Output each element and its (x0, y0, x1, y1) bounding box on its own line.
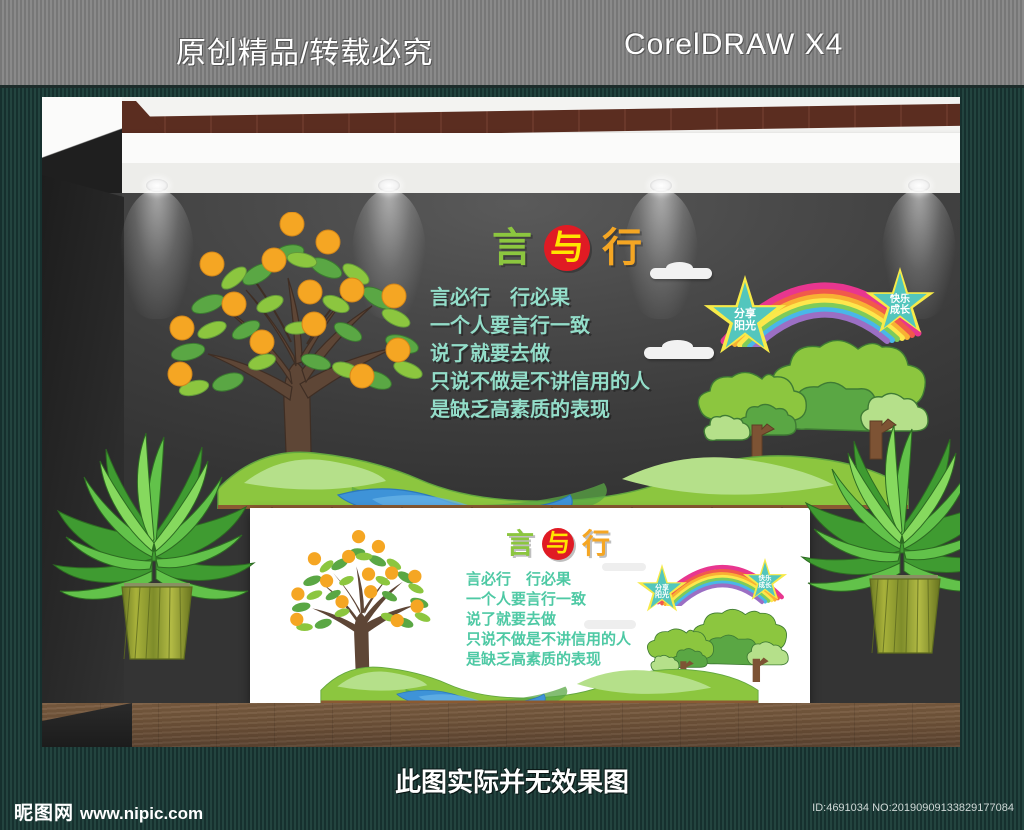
panel-title-char-3: 行 (582, 530, 610, 558)
star-right-line2: 成长 (890, 306, 910, 317)
panel-star-left-line1: 分享 (655, 585, 669, 592)
room-scene: 言 与 行 言必行 行必果 一个人要言行一致 说了就要去做 只说不做是不讲信用的… (42, 97, 982, 747)
screenshot-root: 原创精品/转载必究 CorelDRAW X4 (0, 0, 1024, 830)
panel-grass-hills-icon (260, 650, 805, 704)
watermark: 昵图网 www.nipic.com (14, 798, 203, 825)
title-char-1: 言 (492, 228, 532, 268)
title-char-2-circle: 与 (544, 225, 590, 271)
mural-body-text: 言必行 行必果 一个人要言行一致 说了就要去做 只说不做是不讲信用的人 是缺乏高… (430, 284, 650, 424)
mural-line-5: 是缺乏高素质的表现 (430, 396, 650, 424)
panel-line-4: 只说不做是不讲信用的人 (466, 630, 631, 650)
star-right-line1: 快乐 (890, 295, 910, 306)
banner-left-text: 原创精品/转载必究 (176, 28, 433, 72)
mural-line-4: 只说不做是不讲信用的人 (430, 368, 650, 396)
mural-line-2: 一个人要言行一致 (430, 312, 650, 340)
watermark-url: www.nipic.com (80, 804, 203, 824)
cloud-icon-1 (650, 268, 712, 279)
footer-note: 此图实际并无效果图 (0, 762, 1024, 799)
panel-title-char-2: 与 (546, 532, 570, 556)
mural-line-1: 言必行 行必果 (430, 284, 650, 312)
panel-title-char-1: 言 (506, 530, 534, 558)
palm-plant-icon-left (52, 415, 262, 665)
watermark-brand: 昵图网 (14, 798, 74, 825)
title-char-2: 与 (550, 231, 584, 265)
panel-line-1: 言必行 行必果 (466, 570, 631, 590)
panel-title-char-2-circle: 与 (542, 528, 574, 560)
wooden-floor (42, 703, 982, 747)
banner-right-text: CorelDRAW X4 (624, 28, 843, 62)
panel-cloud-icon-2 (584, 620, 636, 629)
title-char-3: 行 (602, 228, 642, 268)
mural-line-3: 说了就要去做 (430, 340, 650, 368)
panel-line-2: 一个人要言行一致 (466, 590, 631, 610)
ceiling-soffit (42, 163, 982, 193)
top-banner: 原创精品/转载必究 CorelDRAW X4 (0, 0, 1024, 88)
star-left-line2: 阳光 (734, 321, 756, 333)
mural-title: 言 与 行 (492, 225, 642, 271)
panel-title: 言 与 行 (506, 528, 610, 560)
panel-star-left-line2: 阳光 (655, 592, 669, 599)
flat-preview-panel: 言 与 行 言必行 行必果 一个人要言行一致 说了就要去做 只说不做是不讲信用的… (250, 508, 810, 704)
frame-right-strip (960, 97, 1024, 747)
image-id-text: ID:4691034 NO:20190909133829177084 (812, 802, 1014, 814)
palm-plant-icon-right (800, 397, 982, 667)
panel-star-right-line2: 成长 (759, 583, 772, 590)
